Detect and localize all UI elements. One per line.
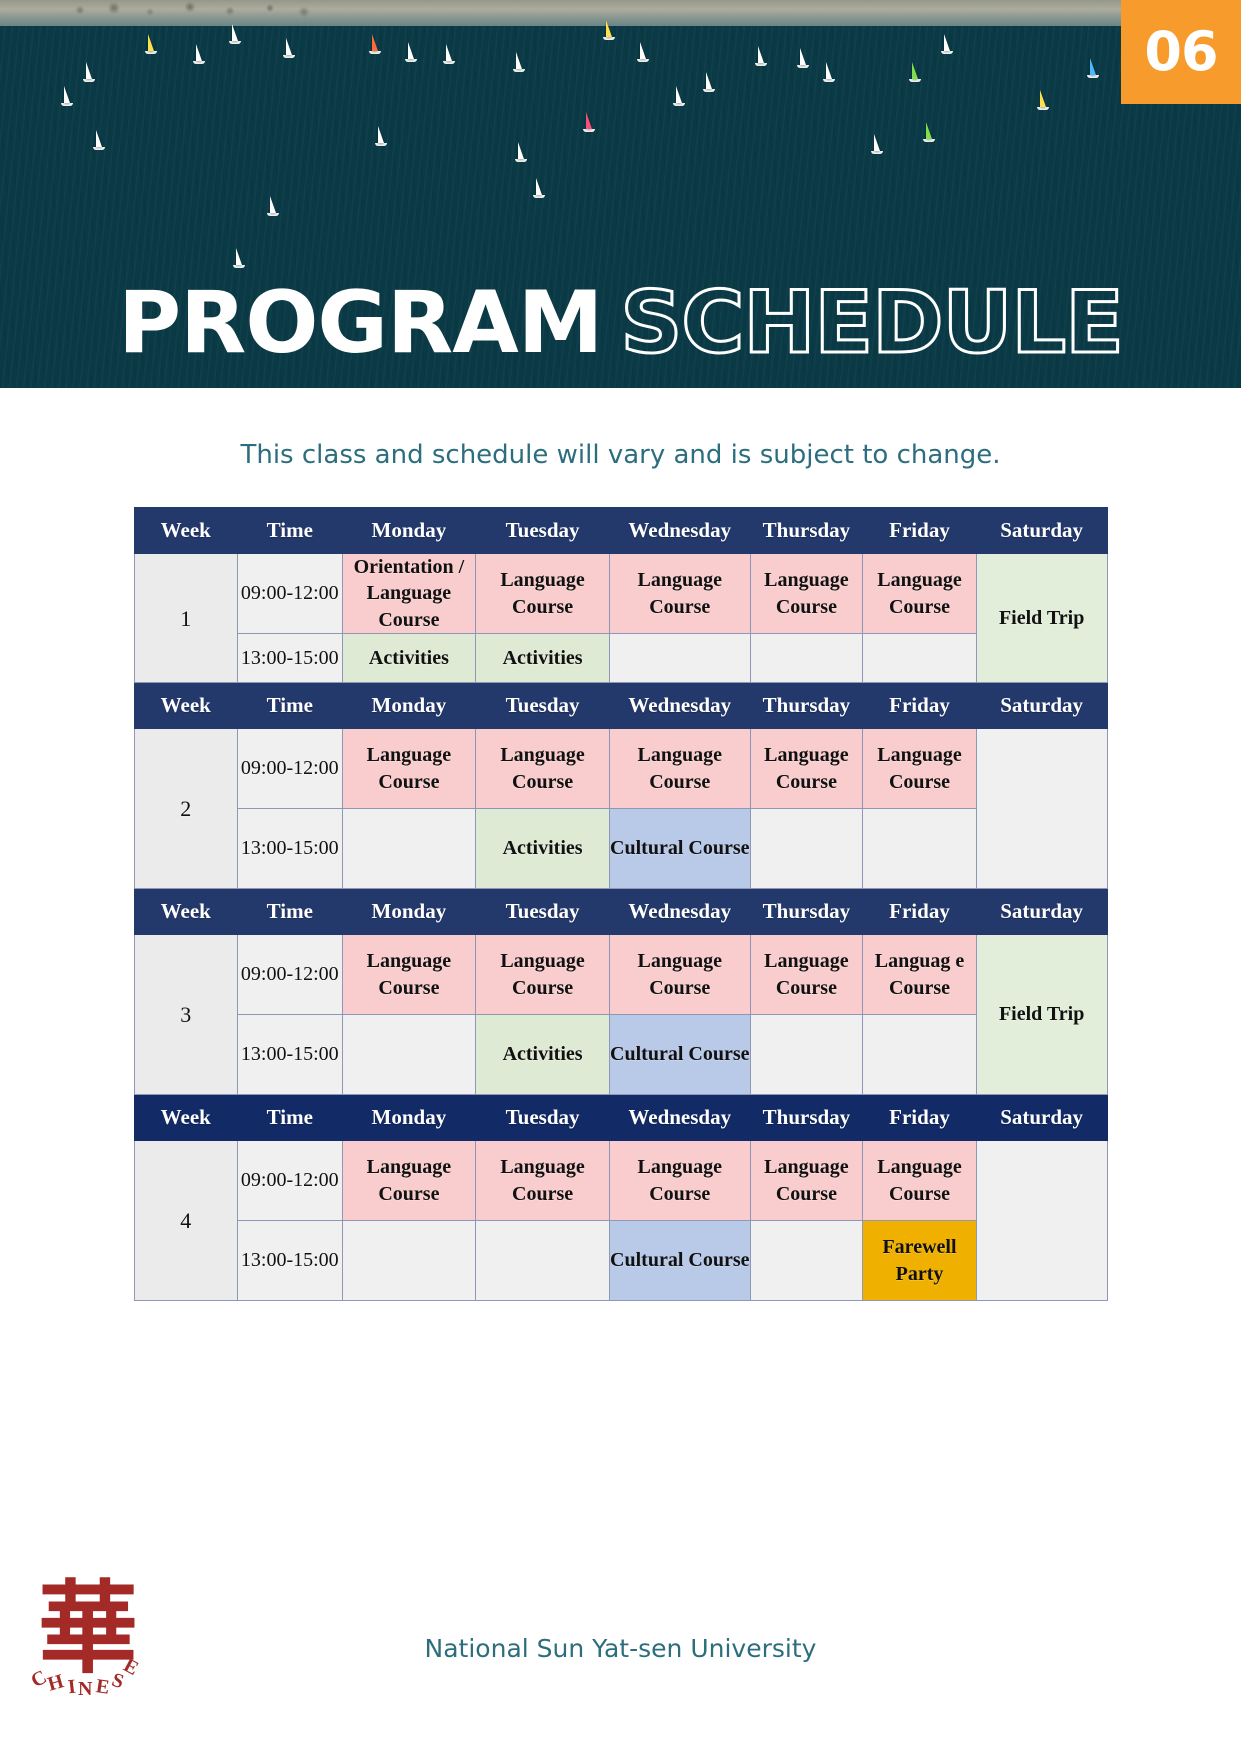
- table-row: 1 09:00-12:00 Orientation / Language Cou…: [134, 554, 1107, 634]
- col-header-wednesday: Wednesday: [609, 1095, 750, 1141]
- sailboat: [926, 122, 935, 142]
- schedule-cell-thursday: Language Course: [750, 729, 863, 809]
- col-header-time: Time: [238, 889, 343, 935]
- schedule-cell-thursday: Language Course: [750, 935, 863, 1015]
- schedule-cell-friday: Language Course: [863, 554, 977, 634]
- schedule-cell-tuesday: Activities: [476, 1015, 610, 1095]
- sailboat: [676, 86, 685, 106]
- hero-banner: 06 PROGRAMSCHEDULE: [0, 0, 1241, 388]
- table-row: 3 09:00-12:00 Language Course Language C…: [134, 935, 1107, 1015]
- table-row: 4 09:00-12:00 Language Course Language C…: [134, 1141, 1107, 1221]
- sailboat: [758, 46, 767, 66]
- time-slot: 09:00-12:00: [238, 729, 343, 809]
- page-title: PROGRAMSCHEDULE: [0, 280, 1241, 366]
- schedule-cell-tuesday: Activities: [476, 809, 610, 889]
- col-header-tuesday: Tuesday: [476, 1095, 610, 1141]
- week-number: 3: [134, 935, 238, 1095]
- schedule-cell-tuesday: Language Course: [476, 729, 610, 809]
- col-header-saturday: Saturday: [976, 683, 1107, 729]
- schedule-cell-saturday: [976, 1141, 1107, 1301]
- sailboat: [518, 142, 527, 162]
- logo-character: 華: [38, 1579, 138, 1679]
- col-header-thursday: Thursday: [750, 508, 863, 554]
- table-header-row: Week Time Monday Tuesday Wednesday Thurs…: [134, 1095, 1107, 1141]
- page-title-solid: PROGRAM: [118, 273, 602, 373]
- logo-letter-e: E: [94, 1675, 110, 1700]
- schedule-cell-friday: [863, 1015, 977, 1095]
- sailboat: [536, 178, 545, 198]
- schedule-cell-thursday: Language Course: [750, 554, 863, 634]
- sailboat: [606, 20, 615, 40]
- schedule-cell-wednesday: Cultural Course: [609, 1015, 750, 1095]
- schedule-cell-friday: Language Course: [863, 729, 977, 809]
- table-header-row: Week Time Monday Tuesday Wednesday Thurs…: [134, 683, 1107, 729]
- schedule-cell-tuesday: Language Course: [476, 1141, 610, 1221]
- sailboat: [1090, 58, 1099, 78]
- sailboat: [196, 44, 205, 64]
- col-header-thursday: Thursday: [750, 683, 863, 729]
- schedule-table-wrapper: Week Time Monday Tuesday Wednesday Thurs…: [134, 507, 1108, 1301]
- col-header-week: Week: [134, 683, 238, 729]
- col-header-tuesday: Tuesday: [476, 889, 610, 935]
- col-header-time: Time: [238, 508, 343, 554]
- table-row: 13:00-15:00 Activities Cultural Course: [134, 809, 1107, 889]
- sailboat: [378, 126, 387, 146]
- schedule-cell-wednesday: [609, 634, 750, 683]
- sailboat: [826, 62, 835, 82]
- schedule-cell-monday: Language Course: [342, 729, 476, 809]
- week-number: 2: [134, 729, 238, 889]
- col-header-friday: Friday: [863, 683, 977, 729]
- time-slot: 13:00-15:00: [238, 1015, 343, 1095]
- page-number-badge: 06: [1121, 0, 1241, 104]
- time-slot: 13:00-15:00: [238, 1221, 343, 1301]
- table-row: 2 09:00-12:00 Language Course Language C…: [134, 729, 1107, 809]
- col-header-friday: Friday: [863, 889, 977, 935]
- col-header-week: Week: [134, 508, 238, 554]
- schedule-cell-thursday: [750, 809, 863, 889]
- sailboat: [944, 34, 953, 54]
- schedule-cell-thursday: [750, 1015, 863, 1095]
- table-row: 13:00-15:00 Activities Cultural Course: [134, 1015, 1107, 1095]
- week-number: 1: [134, 554, 238, 683]
- sailboat: [408, 42, 417, 62]
- time-slot: 09:00-12:00: [238, 1141, 343, 1221]
- schedule-cell-tuesday: Language Course: [476, 554, 610, 634]
- page-title-outline: SCHEDULE: [620, 273, 1123, 373]
- col-header-saturday: Saturday: [976, 1095, 1107, 1141]
- page-number: 06: [1144, 25, 1217, 79]
- col-header-wednesday: Wednesday: [609, 683, 750, 729]
- table-row: 13:00-15:00 Cultural Course Farewell Par…: [134, 1221, 1107, 1301]
- sailboat: [286, 38, 295, 58]
- sailboat: [446, 44, 455, 64]
- col-header-time: Time: [238, 1095, 343, 1141]
- time-slot: 09:00-12:00: [238, 935, 343, 1015]
- sailboat: [800, 48, 809, 68]
- schedule-cell-thursday: Language Course: [750, 1141, 863, 1221]
- schedule-cell-saturday: Field Trip: [976, 554, 1107, 683]
- sailboat: [586, 112, 595, 132]
- schedule-cell-friday: [863, 634, 977, 683]
- program-schedule-table: Week Time Monday Tuesday Wednesday Thurs…: [134, 507, 1108, 1301]
- schedule-cell-monday: [342, 809, 476, 889]
- schedule-cell-wednesday: Cultural Course: [609, 1221, 750, 1301]
- schedule-cell-wednesday: Language Course: [609, 554, 750, 634]
- schedule-cell-monday: Orientation / Language Course: [342, 554, 476, 634]
- col-header-thursday: Thursday: [750, 889, 863, 935]
- col-header-monday: Monday: [342, 683, 476, 729]
- sailboat: [270, 196, 279, 216]
- sailboat: [232, 24, 241, 44]
- table-row: 13:00-15:00 Activities Activities: [134, 634, 1107, 683]
- sailboat: [236, 248, 245, 268]
- schedule-cell-wednesday: Cultural Course: [609, 809, 750, 889]
- col-header-tuesday: Tuesday: [476, 683, 610, 729]
- sailboat: [1040, 90, 1049, 110]
- schedule-cell-friday: Languag e Course: [863, 935, 977, 1015]
- col-header-week: Week: [134, 1095, 238, 1141]
- schedule-cell-monday: Language Course: [342, 935, 476, 1015]
- col-header-saturday: Saturday: [976, 889, 1107, 935]
- logo-letter-n: N: [78, 1678, 92, 1701]
- col-header-monday: Monday: [342, 1095, 476, 1141]
- time-slot: 13:00-15:00: [238, 634, 343, 683]
- col-header-saturday: Saturday: [976, 508, 1107, 554]
- time-slot: 13:00-15:00: [238, 809, 343, 889]
- schedule-cell-friday: [863, 809, 977, 889]
- col-header-tuesday: Tuesday: [476, 508, 610, 554]
- col-header-wednesday: Wednesday: [609, 889, 750, 935]
- time-slot: 09:00-12:00: [238, 554, 343, 634]
- schedule-cell-monday: [342, 1015, 476, 1095]
- schedule-cell-saturday: [976, 729, 1107, 889]
- page-footer: 華 C H I N E S E National Sun Yat-sen Uni…: [0, 1565, 1241, 1755]
- sailboat: [372, 34, 381, 54]
- table-header-row: Week Time Monday Tuesday Wednesday Thurs…: [134, 889, 1107, 935]
- week-number: 4: [134, 1141, 238, 1301]
- col-header-monday: Monday: [342, 889, 476, 935]
- table-header-row: Week Time Monday Tuesday Wednesday Thurs…: [134, 508, 1107, 554]
- schedule-cell-monday: [342, 1221, 476, 1301]
- col-header-friday: Friday: [863, 1095, 977, 1141]
- col-header-week: Week: [134, 889, 238, 935]
- schedule-cell-saturday: Field Trip: [976, 935, 1107, 1095]
- schedule-cell-tuesday: Activities: [476, 634, 610, 683]
- sailboat: [706, 72, 715, 92]
- sailboat: [874, 134, 883, 154]
- schedule-cell-thursday: [750, 1221, 863, 1301]
- schedule-cell-friday: Language Course: [863, 1141, 977, 1221]
- schedule-cell-thursday: [750, 634, 863, 683]
- sailboat: [516, 52, 525, 72]
- col-header-thursday: Thursday: [750, 1095, 863, 1141]
- sailboat: [640, 42, 649, 62]
- col-header-time: Time: [238, 683, 343, 729]
- col-header-monday: Monday: [342, 508, 476, 554]
- sailboat: [86, 62, 95, 82]
- schedule-cell-wednesday: Language Course: [609, 729, 750, 809]
- schedule-cell-tuesday: [476, 1221, 610, 1301]
- schedule-cell-tuesday: Language Course: [476, 935, 610, 1015]
- sailboat: [148, 34, 157, 54]
- schedule-cell-monday: Language Course: [342, 1141, 476, 1221]
- schedule-disclaimer: This class and schedule will vary and is…: [0, 440, 1241, 470]
- sailboat: [912, 62, 921, 82]
- beach-rocks: [60, 0, 320, 22]
- schedule-cell-friday: Farewell Party: [863, 1221, 977, 1301]
- university-name: National Sun Yat-sen University: [0, 1634, 1241, 1663]
- schedule-cell-monday: Activities: [342, 634, 476, 683]
- sailboat: [96, 130, 105, 150]
- schedule-cell-wednesday: Language Course: [609, 1141, 750, 1221]
- sailboat: [64, 86, 73, 106]
- schedule-cell-wednesday: Language Course: [609, 935, 750, 1015]
- col-header-wednesday: Wednesday: [609, 508, 750, 554]
- col-header-friday: Friday: [863, 508, 977, 554]
